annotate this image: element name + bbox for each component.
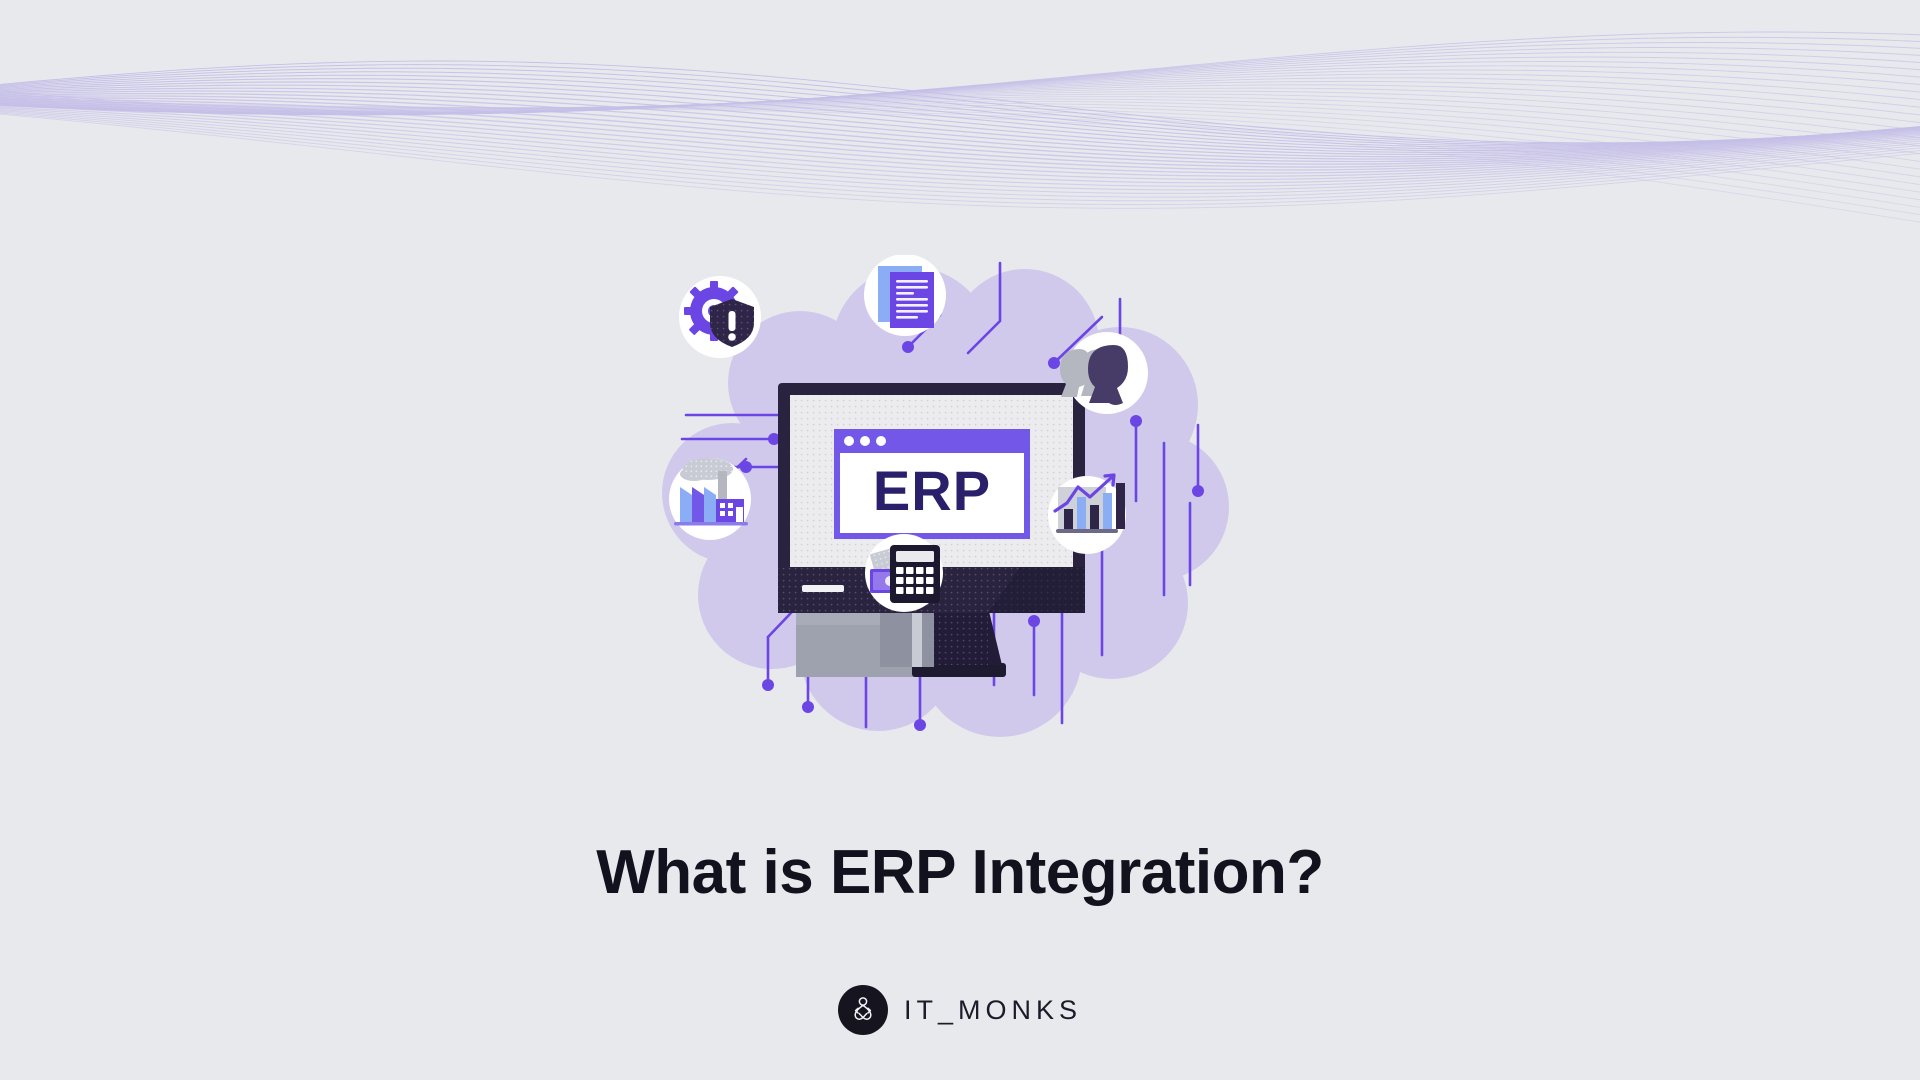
- erp-integration-illustration: ERP: [650, 255, 1270, 775]
- slide-canvas: ERP: [0, 0, 1920, 1080]
- badge-finance: [865, 534, 943, 612]
- erp-screen-label: ERP: [873, 459, 991, 522]
- brand-name: IT_MONKS: [904, 995, 1082, 1026]
- brand-logo[interactable]: IT_MONKS: [0, 985, 1920, 1035]
- badge-documents: [864, 255, 946, 336]
- badge-settings-security: [679, 276, 761, 358]
- documents-icon: [878, 266, 934, 328]
- people-heads-icon: [1060, 345, 1128, 405]
- page-title: What is ERP Integration?: [0, 837, 1920, 908]
- it-monks-monk-logo-icon: [838, 985, 888, 1035]
- badge-manufacturing: [669, 458, 751, 540]
